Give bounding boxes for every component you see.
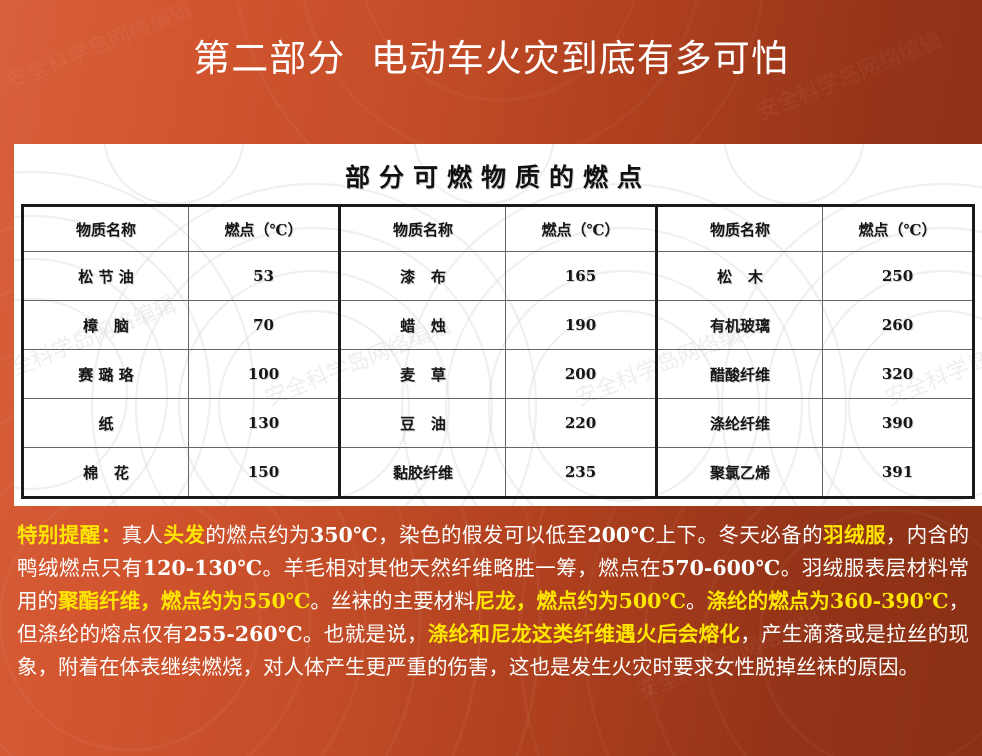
cell-ignition-point: 200 — [506, 350, 657, 399]
cell-material-name: 赛 璐 珞 — [23, 350, 189, 399]
cell-material-name: 黏胶纤维 — [340, 448, 506, 498]
note-segment-19: 500℃ — [619, 589, 686, 613]
cell-material-name: 漆 布 — [340, 252, 506, 301]
note-segment-8: 冬天必备的 — [718, 523, 823, 547]
note-segment-13: 570-600℃ — [661, 556, 781, 580]
note-segment-25: 。也就是说， — [303, 622, 428, 646]
note-segment-20: 。 — [686, 589, 707, 613]
table-header-row: 物质名称 燃点（℃） 物质名称 燃点（℃） 物质名称 燃点（℃） — [23, 206, 974, 252]
note-segment-11: 120-130℃ — [143, 556, 263, 580]
table-panel: 安全科学岛网络编辑 安全科学岛网络编辑 安全科学岛网络编辑 安全科学岛网络编辑 … — [14, 144, 982, 506]
cell-material-name: 松 木 — [657, 252, 823, 301]
cell-material-name: 醋酸纤维 — [657, 350, 823, 399]
note-segment-16: 550℃ — [243, 589, 310, 613]
note-segment-1: 真人 — [122, 523, 164, 547]
note-segment-26: 涤纶和尼龙这类纤维遇火后会熔化 — [428, 622, 740, 646]
cell-ignition-point: 190 — [506, 301, 657, 350]
table-row: 松 节 油 53 漆 布 165 松 木 250 — [23, 252, 974, 301]
note-segment-5: ，染色的假发可以低至 — [378, 523, 587, 547]
header-name-2: 物质名称 — [340, 206, 506, 252]
table-row: 棉 花 150 黏胶纤维 235 聚氯乙烯 391 — [23, 448, 974, 498]
table-title: 部分可燃物质的燃点 — [14, 144, 982, 204]
cell-ignition-point: 150 — [189, 448, 340, 498]
table-row: 樟 脑 70 蜡 烛 190 有机玻璃 260 — [23, 301, 974, 350]
cell-ignition-point: 391 — [823, 448, 974, 498]
cell-ignition-point: 70 — [189, 301, 340, 350]
cell-material-name: 有机玻璃 — [657, 301, 823, 350]
cell-material-name: 涤纶纤维 — [657, 399, 823, 448]
cell-ignition-point: 250 — [823, 252, 974, 301]
header-value-3: 燃点（℃） — [823, 206, 974, 252]
note-segment-17: 。丝袜的主要材料 — [310, 589, 474, 613]
note-segment-21: 涤纶的燃点为 — [707, 589, 830, 613]
cell-material-name: 聚氯乙烯 — [657, 448, 823, 498]
special-reminder-paragraph: 特别提醒：真人头发的燃点约为350℃，染色的假发可以低至200℃上下。冬天必备的… — [17, 519, 969, 684]
note-segment-12: 。羊毛相对其他天然纤维略胜一筹，燃点在 — [263, 556, 662, 580]
flammable-materials-table: 物质名称 燃点（℃） 物质名称 燃点（℃） 物质名称 燃点（℃） 松 节 油 5… — [21, 204, 975, 499]
header-value-1: 燃点（℃） — [189, 206, 340, 252]
header-name-1: 物质名称 — [23, 206, 189, 252]
cell-material-name: 纸 — [23, 399, 189, 448]
header-name-3: 物质名称 — [657, 206, 823, 252]
note-segment-3: 的燃点约为 — [205, 523, 310, 547]
cell-ignition-point: 390 — [823, 399, 974, 448]
cell-material-name: 豆 油 — [340, 399, 506, 448]
slide-root: 安全科学岛网络编辑 安全科学岛网络编辑 安全科学岛网络编辑 安全科学岛网络编辑 … — [0, 0, 982, 756]
cell-ignition-point: 235 — [506, 448, 657, 498]
cell-ignition-point: 320 — [823, 350, 974, 399]
cell-material-name: 麦 草 — [340, 350, 506, 399]
note-segment-0: 特别提醒： — [17, 523, 122, 547]
table-row: 纸 130 豆 油 220 涤纶纤维 390 — [23, 399, 974, 448]
note-segment-6: 200℃ — [587, 523, 655, 547]
cell-ignition-point: 165 — [506, 252, 657, 301]
cell-ignition-point: 260 — [823, 301, 974, 350]
cell-material-name: 樟 脑 — [23, 301, 189, 350]
cell-ignition-point: 53 — [189, 252, 340, 301]
note-segment-4: 350℃ — [310, 523, 378, 547]
cell-ignition-point: 130 — [189, 399, 340, 448]
note-segment-22: 360-390℃ — [830, 589, 949, 613]
cell-material-name: 棉 花 — [23, 448, 189, 498]
cell-ignition-point: 220 — [506, 399, 657, 448]
page-title: 第二部分 电动车火灾到底有多可怕 — [193, 34, 789, 84]
note-segment-18: 尼龙，燃点约为 — [475, 589, 619, 613]
cell-ignition-point: 100 — [189, 350, 340, 399]
header-value-2: 燃点（℃） — [506, 206, 657, 252]
cell-material-name: 蜡 烛 — [340, 301, 506, 350]
slide-title-bar: 第二部分 电动车火灾到底有多可怕 — [0, 34, 982, 84]
cell-material-name: 松 节 油 — [23, 252, 189, 301]
note-segment-15: 聚酯纤维，燃点约为 — [58, 589, 243, 613]
note-segment-7: 上下。 — [656, 523, 719, 547]
note-segment-24: 255-260℃ — [184, 622, 303, 646]
table-row: 赛 璐 珞 100 麦 草 200 醋酸纤维 320 — [23, 350, 974, 399]
note-segment-9: 羽绒服 — [823, 523, 886, 547]
note-segment-2: 头发 — [163, 523, 205, 547]
